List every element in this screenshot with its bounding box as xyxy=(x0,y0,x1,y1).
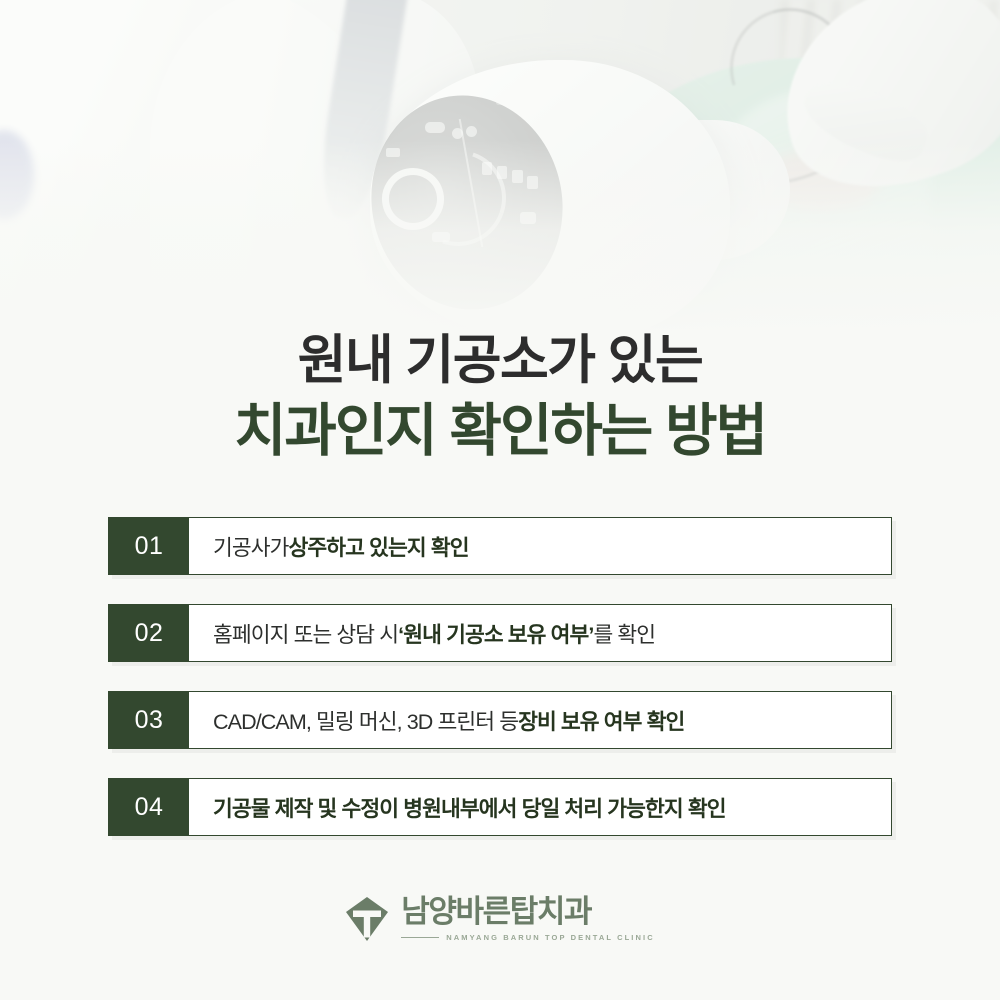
logo-text-block: 남양바른탑치과 NAMYANG BARUN TOP DENTAL CLINIC xyxy=(401,896,654,942)
logo-subtitle: NAMYANG BARUN TOP DENTAL CLINIC xyxy=(446,933,654,942)
list-item-number: 04 xyxy=(109,779,189,835)
text-emphasis: 기공물 제작 및 수정이 병원 xyxy=(213,792,441,823)
checklist: 01 기공사가 상주하고 있는지 확인 02 홈페이지 또는 상담 시 ‘원내 … xyxy=(108,517,892,865)
photo-bottom-fade xyxy=(0,140,1000,340)
text-emphasis: 장비 보유 여부 확인 xyxy=(518,705,684,736)
text-emphasis: 내부에서 당일 처리 가능한지 확인 xyxy=(441,792,726,823)
text-plain: 를 확인 xyxy=(593,618,655,649)
list-item: 02 홈페이지 또는 상담 시 ‘원내 기공소 보유 여부’를 확인 xyxy=(108,604,892,662)
list-item-number: 03 xyxy=(109,692,189,748)
list-item-text: 기공물 제작 및 수정이 병원 내부에서 당일 처리 가능한지 확인 xyxy=(189,779,891,835)
hero-photo-banner xyxy=(0,0,1000,340)
list-item: 04 기공물 제작 및 수정이 병원 내부에서 당일 처리 가능한지 확인 xyxy=(108,778,892,836)
text-emphasis: ‘원내 기공소 보유 여부’ xyxy=(398,618,593,649)
list-item-text: CAD/CAM, 밀링 머신, 3D 프린터 등 장비 보유 여부 확인 xyxy=(189,692,891,748)
list-item-number: 01 xyxy=(109,518,189,574)
clinic-logo: 남양바른탑치과 NAMYANG BARUN TOP DENTAL CLINIC xyxy=(0,896,1000,942)
logo-subtitle-row: NAMYANG BARUN TOP DENTAL CLINIC xyxy=(401,933,654,942)
infographic-poster: 원내 기공소가 있는 치과인지 확인하는 방법 01 기공사가 상주하고 있는지… xyxy=(0,0,1000,1000)
logo-clinic-name: 남양바른탑치과 xyxy=(401,896,591,929)
list-item-number: 02 xyxy=(109,605,189,661)
logo-rule xyxy=(401,937,439,939)
title-line-2: 치과인지 확인하는 방법 xyxy=(0,397,1000,465)
title-line-1: 원내 기공소가 있는 xyxy=(0,330,1000,393)
text-plain: 홈페이지 또는 상담 시 xyxy=(213,618,398,649)
text-plain: CAD/CAM, 밀링 머신, 3D 프린터 등 xyxy=(213,705,518,736)
text-emphasis: 상주하고 있는지 확인 xyxy=(289,531,469,562)
list-item-text: 기공사가 상주하고 있는지 확인 xyxy=(189,518,891,574)
list-item-text: 홈페이지 또는 상담 시 ‘원내 기공소 보유 여부’를 확인 xyxy=(189,605,891,661)
diamond-t-mark-icon xyxy=(345,896,389,942)
text-plain: 기공사가 xyxy=(213,531,289,562)
page-title: 원내 기공소가 있는 치과인지 확인하는 방법 xyxy=(0,330,1000,465)
list-item: 03 CAD/CAM, 밀링 머신, 3D 프린터 등 장비 보유 여부 확인 xyxy=(108,691,892,749)
list-item: 01 기공사가 상주하고 있는지 확인 xyxy=(108,517,892,575)
